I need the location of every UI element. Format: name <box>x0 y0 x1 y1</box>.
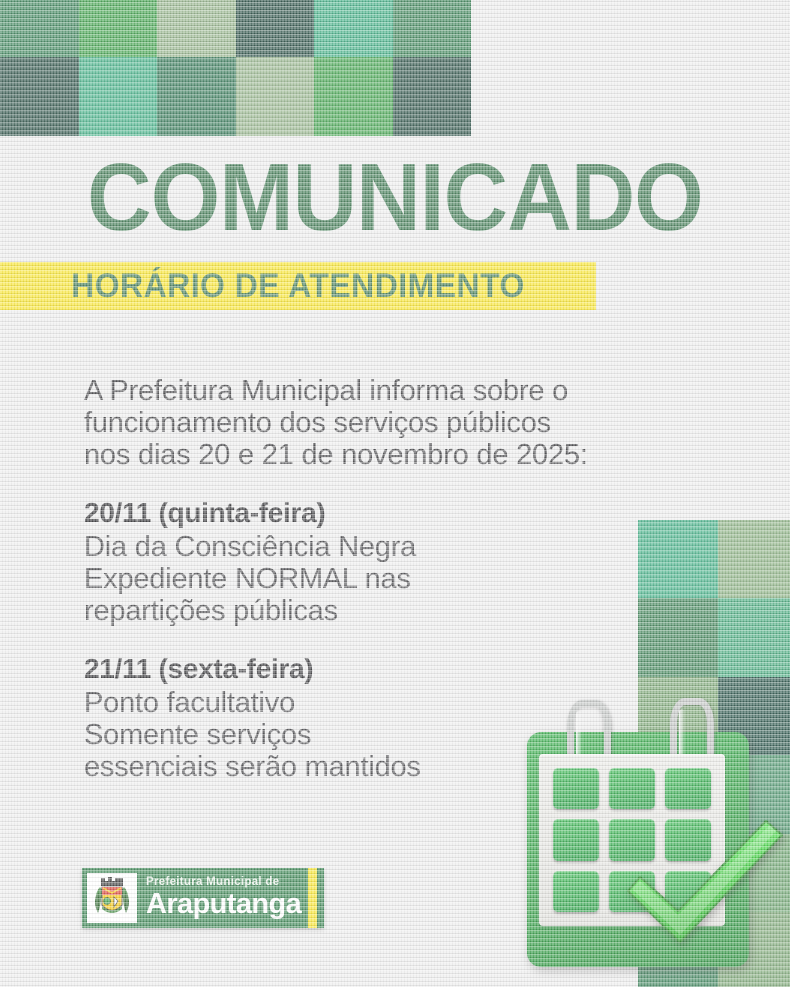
logo-city-name: Araputanga <box>146 890 301 919</box>
poster-canvas: COMUNICADO HORÁRIO DE ATENDIMENTO A Pref… <box>0 0 790 987</box>
checker-square <box>157 0 236 57</box>
checker-square <box>0 57 79 136</box>
checkmark-icon <box>620 815 790 955</box>
calendar-cell <box>609 768 655 809</box>
checker-square <box>393 57 472 136</box>
checker-square <box>718 520 790 598</box>
decorative-checkerboard-top <box>0 0 471 136</box>
logo-text-group: Prefeitura Municipal de Araputanga <box>146 877 301 920</box>
checker-square <box>236 0 315 57</box>
day-block-20: 20/11 (quinta-feira) Dia da Consciência … <box>84 496 684 627</box>
logo-accent-stripe <box>308 868 317 928</box>
calendar-illustration <box>515 690 790 987</box>
calendar-cell <box>553 871 599 912</box>
intro-paragraph: A Prefeitura Municipal informa sobre o f… <box>84 375 684 471</box>
calendar-cell <box>665 768 711 809</box>
day-block-20-lines: Dia da Consciência Negra Expediente NORM… <box>84 531 684 627</box>
page-title: COMUNICADO <box>28 150 763 246</box>
coat-of-arms-icon <box>87 873 137 923</box>
page-subtitle: HORÁRIO DE ATENDIMENTO <box>18 262 578 310</box>
checker-square <box>236 57 315 136</box>
calendar-cell <box>553 819 599 860</box>
checker-square <box>157 57 236 136</box>
day-block-20-heading: 20/11 (quinta-feira) <box>84 496 684 530</box>
checker-square <box>718 598 790 676</box>
checker-square <box>314 57 393 136</box>
checker-square <box>79 0 158 57</box>
checker-square <box>314 0 393 57</box>
checker-square <box>79 57 158 136</box>
calendar-cell <box>553 768 599 809</box>
logo-prefix-text: Prefeitura Municipal de <box>146 877 301 889</box>
checker-square <box>393 0 472 57</box>
day-block-21-heading: 21/11 (sexta-feira) <box>84 652 684 686</box>
checker-square <box>0 0 79 57</box>
municipality-logo[interactable]: Prefeitura Municipal de Araputanga <box>82 868 324 928</box>
